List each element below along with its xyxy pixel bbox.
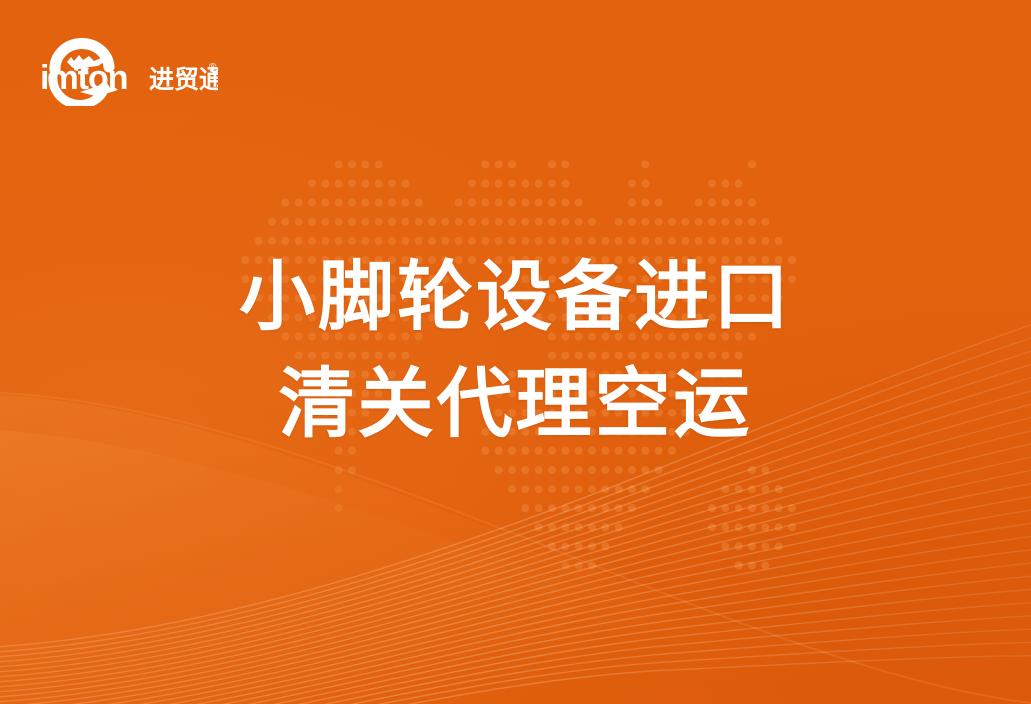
headline-line-1: 小脚轮设备进口 [0, 255, 1031, 340]
promo-banner: imton 进贸通 ® 小脚轮设备进口 清关代理空运 [0, 0, 1031, 704]
logo-wordmark: imton [40, 59, 128, 97]
headline: 小脚轮设备进口 清关代理空运 [0, 255, 1031, 447]
brand-logo[interactable]: imton 进贸通 ® [33, 26, 218, 106]
logo-chinese-name: 进贸通 [149, 66, 218, 94]
headline-line-2: 清关代理空运 [0, 362, 1031, 447]
trademark-symbol: ® [209, 62, 217, 73]
